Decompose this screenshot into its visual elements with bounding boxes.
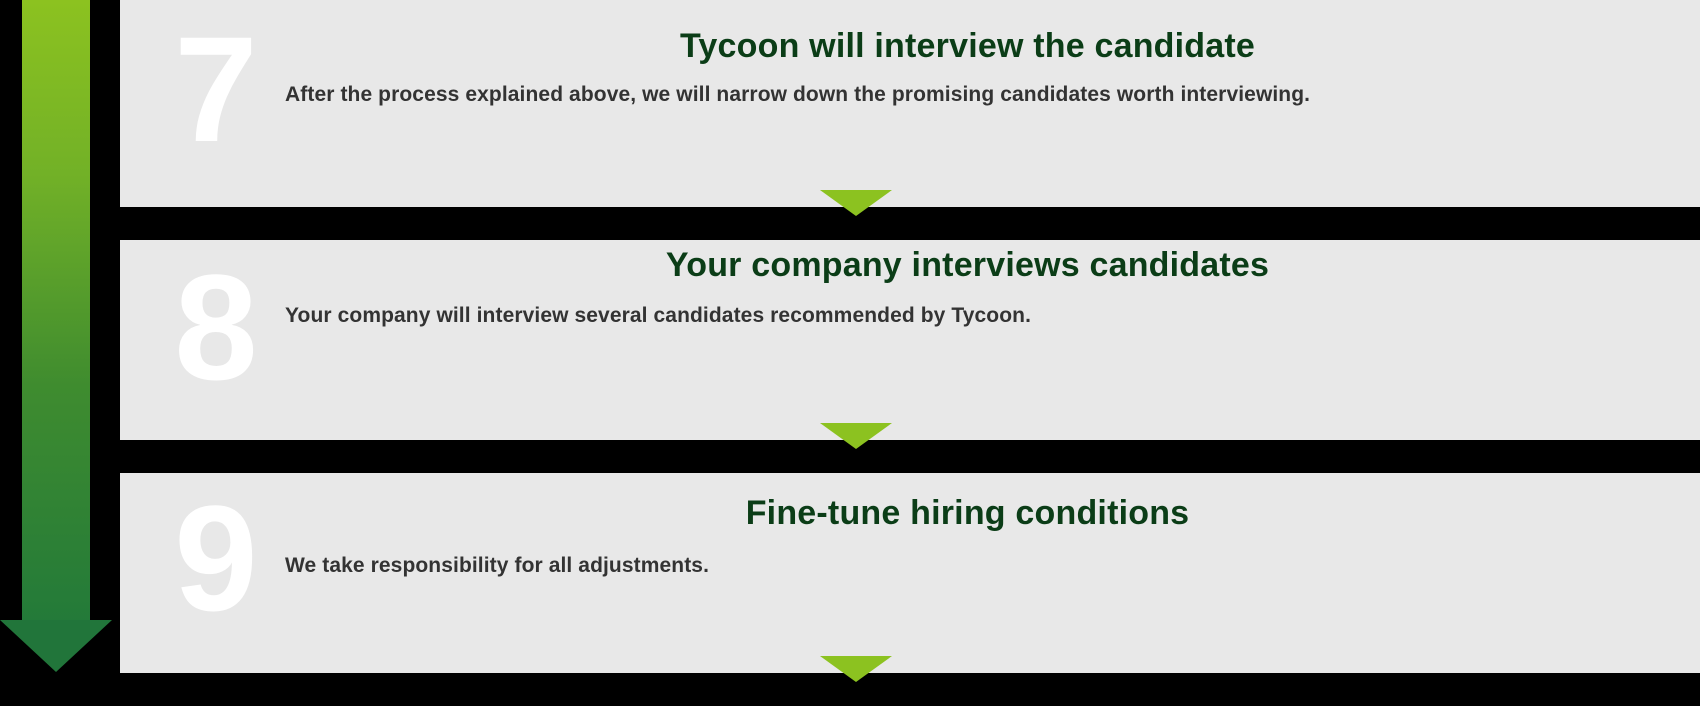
step-content-7: Tycoon will interview the candidate Afte…: [275, 0, 1660, 110]
step-title-7: Tycoon will interview the candidate: [275, 26, 1660, 66]
progress-arrow-head: [0, 620, 112, 672]
step-description-8: Your company will interview several cand…: [275, 301, 1660, 331]
connector-arrow-icon-2: [820, 423, 892, 449]
progress-arrow-shaft: [22, 0, 90, 622]
step-title-8: Your company interviews candidates: [275, 245, 1660, 285]
connector-arrow-icon-3: [820, 656, 892, 682]
step-number-8: 8: [150, 252, 280, 402]
step-card-9: 9 Fine-tune hiring conditions We take re…: [120, 473, 1700, 673]
step-number-9: 9: [150, 483, 280, 633]
step-description-9: We take responsibility for all adjustmen…: [275, 551, 1660, 581]
step-title-9: Fine-tune hiring conditions: [275, 493, 1660, 533]
connector-arrow-icon-1: [820, 190, 892, 216]
progress-arrow-icon: [0, 0, 120, 706]
step-content-9: Fine-tune hiring conditions We take resp…: [275, 473, 1660, 581]
step-content-8: Your company interviews candidates Your …: [275, 240, 1660, 331]
step-card-7: 7 Tycoon will interview the candidate Af…: [120, 0, 1700, 207]
step-card-8: 8 Your company interviews candidates You…: [120, 240, 1700, 440]
step-description-7: After the process explained above, we wi…: [275, 80, 1660, 110]
process-flow-diagram: 7 Tycoon will interview the candidate Af…: [0, 0, 1700, 706]
step-number-7: 7: [150, 14, 280, 164]
